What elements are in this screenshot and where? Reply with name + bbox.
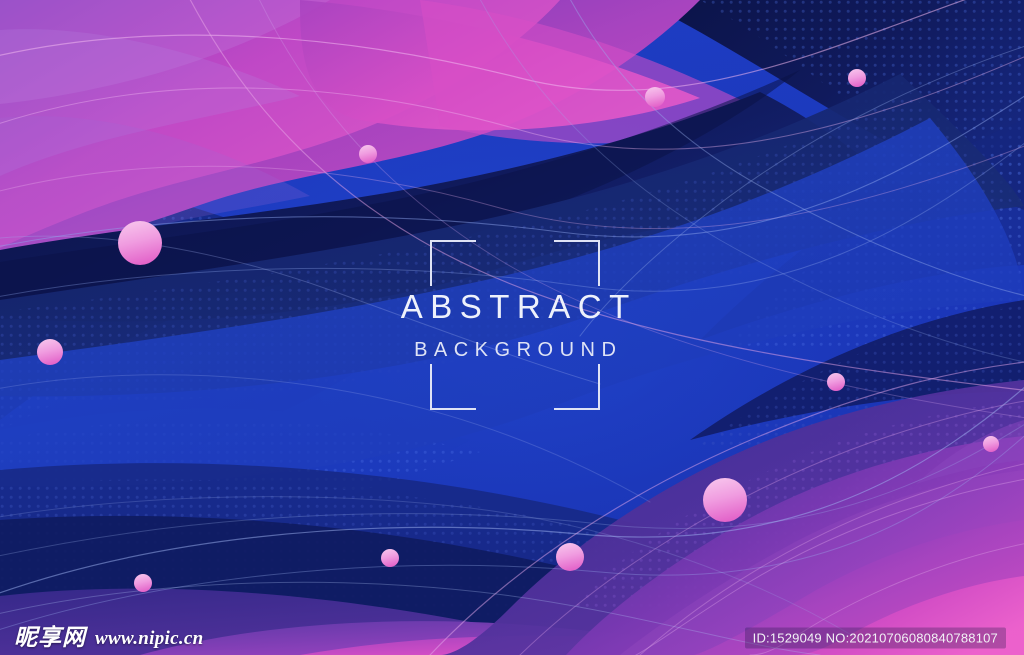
watermark-brand: 昵享网 www.nipic.cn bbox=[14, 621, 203, 655]
watermark-id-text: ID:1529049 NO:20210706080840788107 bbox=[745, 628, 1006, 649]
watermark-bar: 昵享网 www.nipic.cn ID:1529049 NO:202107060… bbox=[0, 621, 1024, 655]
nipic-logo-text: 昵享网 bbox=[14, 627, 86, 650]
background-illustration bbox=[0, 0, 1024, 655]
abstract-background-artwork: ABSTRACT BACKGROUND 昵享网 www.nipic.cn ID:… bbox=[0, 0, 1024, 655]
nipic-url-text: www.nipic.cn bbox=[95, 629, 203, 648]
